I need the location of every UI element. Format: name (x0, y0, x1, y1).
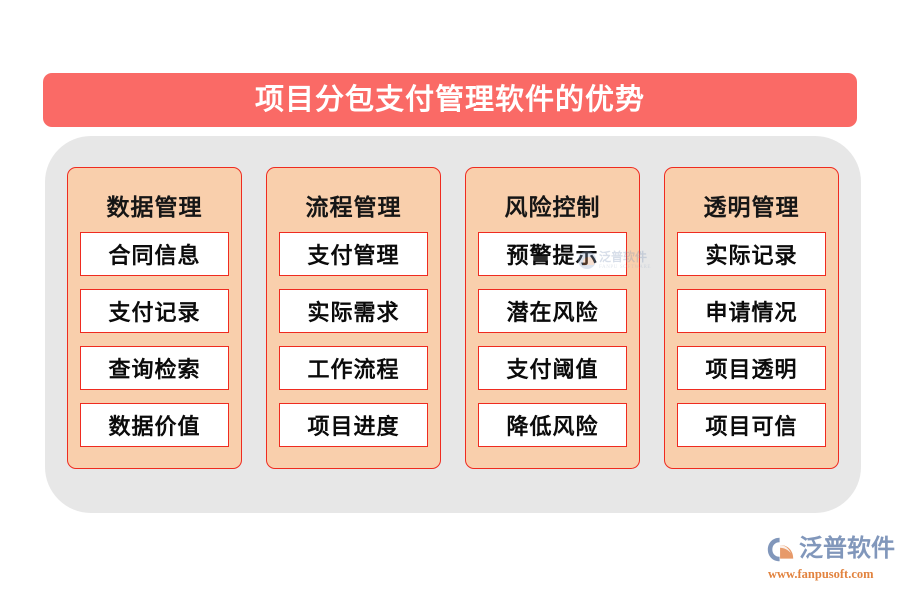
column-header: 流程管理 (279, 178, 428, 232)
infographic-canvas: 项目分包支付管理软件的优势 数据管理 合同信息 支付记录 查询检索 数据价值 流… (0, 0, 900, 600)
column-header: 风险控制 (478, 178, 627, 232)
column-item-list: 实际记录 申请情况 项目透明 项目可信 (677, 232, 826, 456)
brand-url: www.fanpusoft.com (768, 567, 874, 582)
fanpu-leaf-icon (766, 535, 795, 564)
list-item[interactable]: 申请情况 (677, 289, 826, 333)
list-item[interactable]: 项目进度 (279, 403, 428, 447)
column-card-process-management: 流程管理 支付管理 实际需求 工作流程 项目进度 (266, 167, 441, 469)
list-item[interactable]: 数据价值 (80, 403, 229, 447)
column-card-transparency-management: 透明管理 实际记录 申请情况 项目透明 项目可信 (664, 167, 839, 469)
list-item[interactable]: 查询检索 (80, 346, 229, 390)
brand-name: 泛普软件 (799, 537, 895, 561)
column-item-list: 支付管理 实际需求 工作流程 项目进度 (279, 232, 428, 456)
list-item[interactable]: 预警提示 (478, 232, 627, 276)
list-item[interactable]: 支付阈值 (478, 346, 627, 390)
column-item-list: 预警提示 潜在风险 支付阈值 降低风险 (478, 232, 627, 456)
list-item[interactable]: 支付记录 (80, 289, 229, 333)
column-card-data-management: 数据管理 合同信息 支付记录 查询检索 数据价值 (67, 167, 242, 469)
list-item[interactable]: 合同信息 (80, 232, 229, 276)
list-item[interactable]: 项目可信 (677, 403, 826, 447)
column-card-risk-control: 风险控制 预警提示 潜在风险 支付阈值 降低风险 (465, 167, 640, 469)
list-item[interactable]: 实际需求 (279, 289, 428, 333)
column-item-list: 合同信息 支付记录 查询检索 数据价值 (80, 232, 229, 456)
list-item[interactable]: 支付管理 (279, 232, 428, 276)
brand-logo: 泛普软件 www.fanpusoft.com (766, 534, 890, 582)
columns-container: 数据管理 合同信息 支付记录 查询检索 数据价值 流程管理 支付管理 实际需求 … (67, 167, 839, 469)
list-item[interactable]: 降低风险 (478, 403, 627, 447)
list-item[interactable]: 实际记录 (677, 232, 826, 276)
column-header: 透明管理 (677, 178, 826, 232)
list-item[interactable]: 潜在风险 (478, 289, 627, 333)
column-header: 数据管理 (80, 178, 229, 232)
page-title: 项目分包支付管理软件的优势 (255, 86, 645, 115)
brand-logo-row: 泛普软件 (766, 534, 895, 564)
list-item[interactable]: 工作流程 (279, 346, 428, 390)
list-item[interactable]: 项目透明 (677, 346, 826, 390)
title-banner: 项目分包支付管理软件的优势 (43, 73, 857, 127)
